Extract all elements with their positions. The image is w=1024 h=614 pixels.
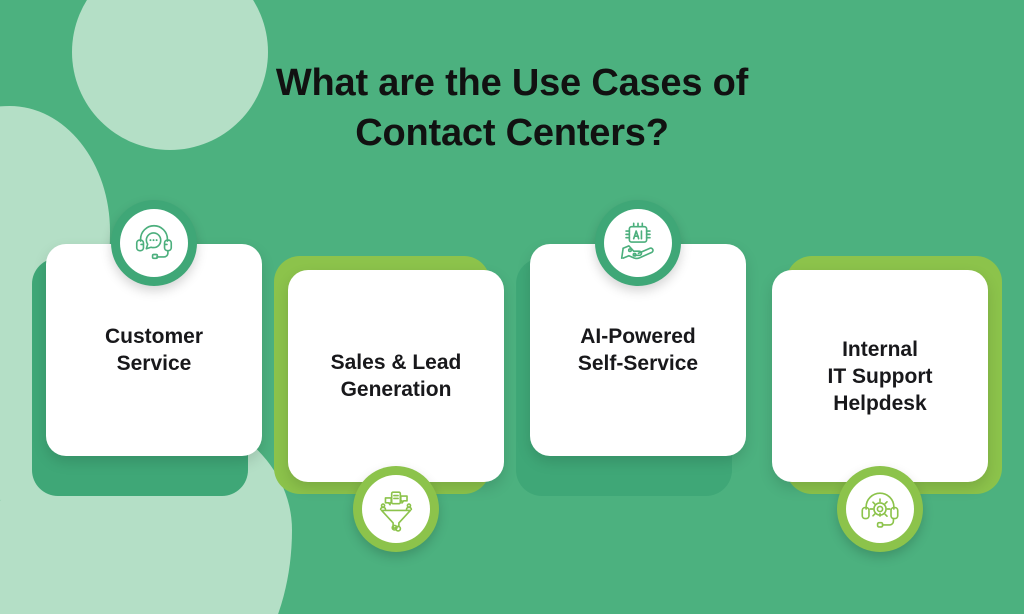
ai-chip-hand-icon (595, 200, 681, 286)
page-title: What are the Use Cases of Contact Center… (0, 58, 1024, 158)
card-label: Internal IT Support Helpdesk (818, 336, 943, 417)
use-case-card-sales-lead-generation[interactable]: Sales & Lead Generation (288, 270, 504, 508)
icon-inner-circle (846, 475, 914, 543)
card-label: AI-Powered Self-Service (568, 323, 708, 377)
use-case-card-internal-it-support-helpdesk[interactable]: Internal IT Support Helpdesk (772, 270, 988, 508)
use-case-card-ai-powered-self-service[interactable]: AI-Powered Self-Service (530, 244, 746, 482)
headset-gear-icon (837, 466, 923, 552)
icon-inner-circle (604, 209, 672, 277)
page-title-line-2: Contact Centers? (0, 108, 1024, 158)
sales-funnel-icon (353, 466, 439, 552)
use-case-card-customer-service[interactable]: Customer Service (46, 244, 262, 482)
page-title-line-1: What are the Use Cases of (0, 58, 1024, 108)
card-label: Customer Service (95, 323, 213, 377)
icon-inner-circle (120, 209, 188, 277)
card-surface[interactable]: Sales & Lead Generation (288, 270, 504, 482)
card-surface[interactable]: Internal IT Support Helpdesk (772, 270, 988, 482)
infographic-canvas: What are the Use Cases of Contact Center… (0, 0, 1024, 614)
icon-inner-circle (362, 475, 430, 543)
card-label: Sales & Lead Generation (321, 349, 472, 403)
headset-chat-icon (111, 200, 197, 286)
